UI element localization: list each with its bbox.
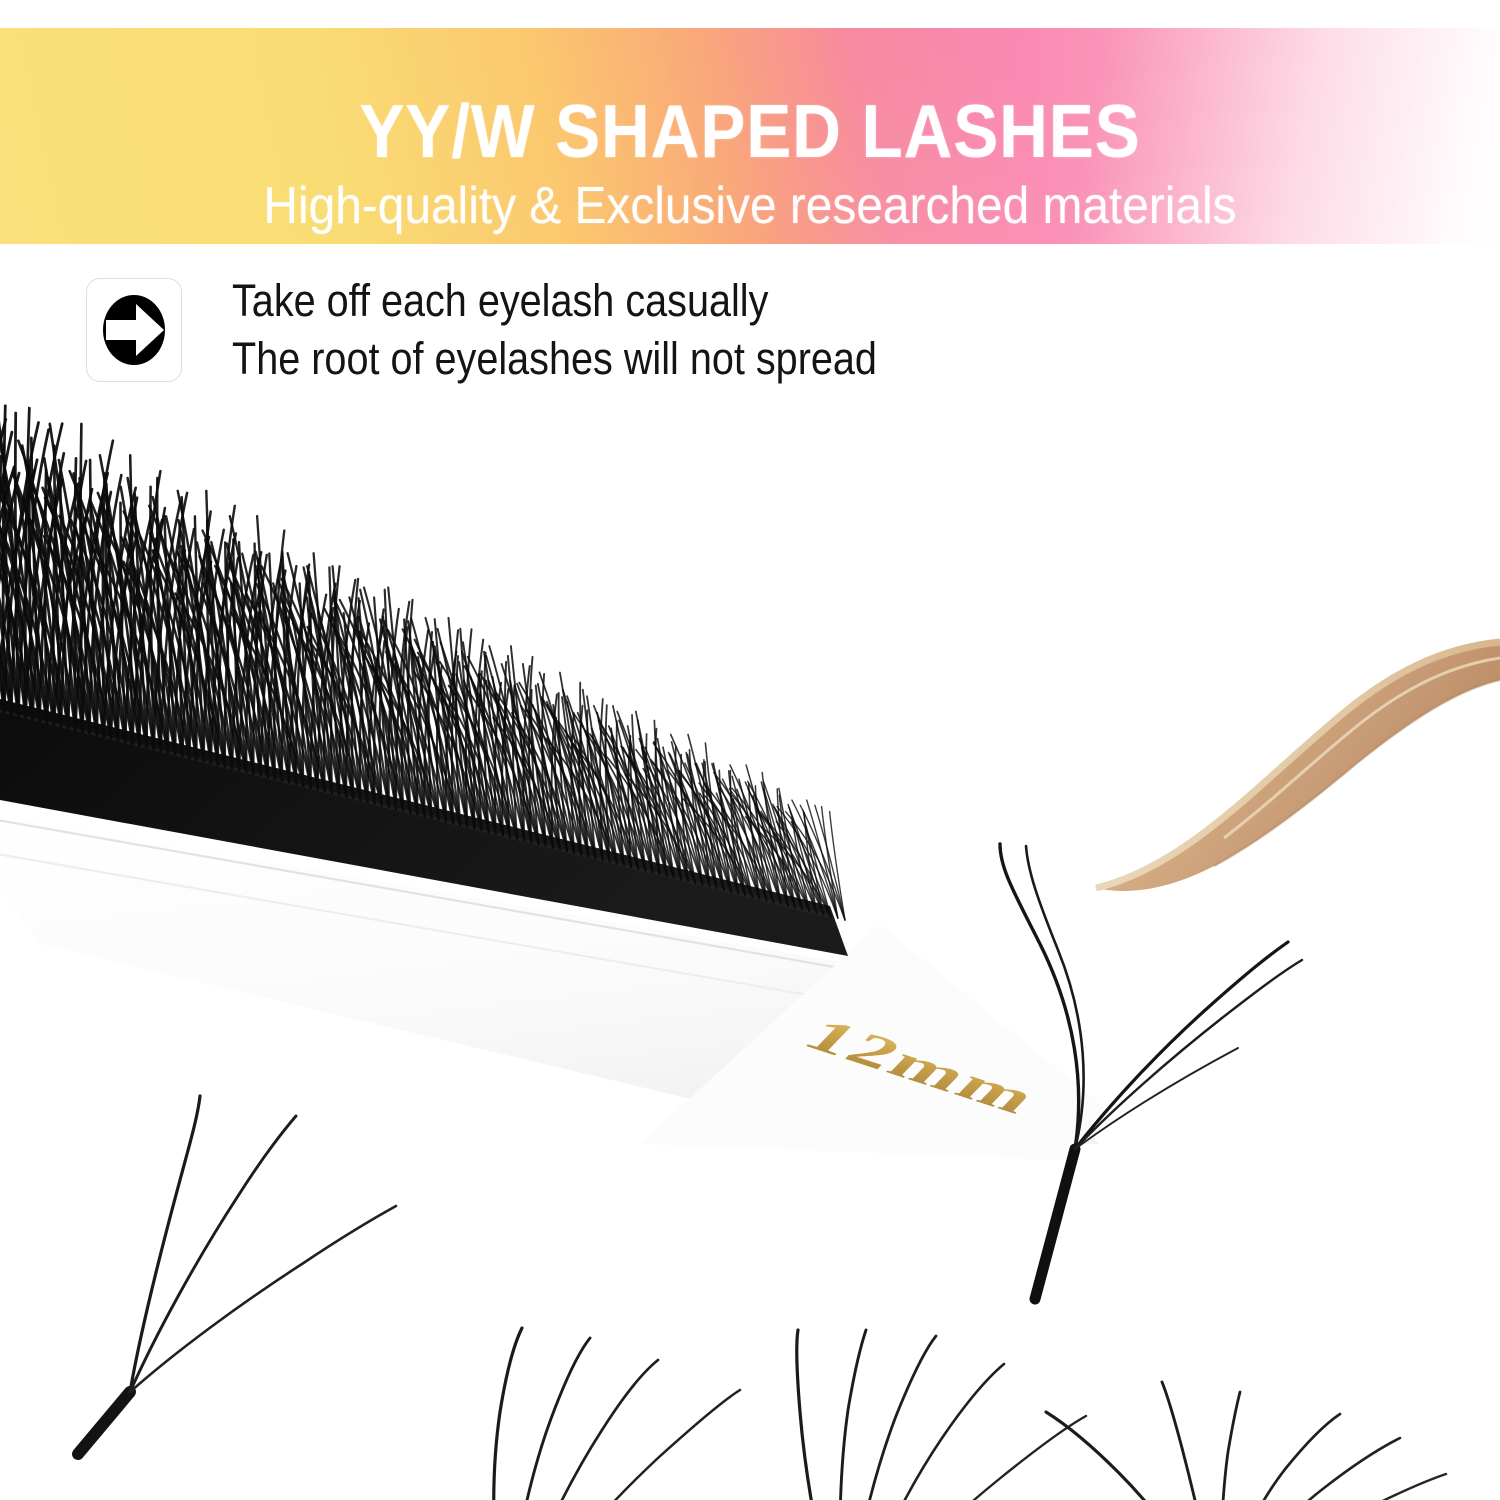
tweezer-tip bbox=[1096, 642, 1500, 891]
product-infographic: YY/W SHAPED LASHES High-quality & Exclus… bbox=[0, 0, 1500, 1500]
fan-row bbox=[78, 1096, 1446, 1500]
fan-3-prong bbox=[78, 1096, 396, 1454]
product-photo: 12mm bbox=[0, 244, 1500, 1500]
page-title: YY/W SHAPED LASHES bbox=[75, 94, 1425, 169]
header-banner: YY/W SHAPED LASHES High-quality & Exclus… bbox=[0, 28, 1500, 244]
page-subtitle: High-quality & Exclusive researched mate… bbox=[60, 180, 1440, 232]
fan-6-prong bbox=[1046, 1382, 1446, 1500]
fan-5-prong bbox=[790, 1330, 1086, 1500]
fan-4-prong bbox=[448, 1328, 740, 1500]
